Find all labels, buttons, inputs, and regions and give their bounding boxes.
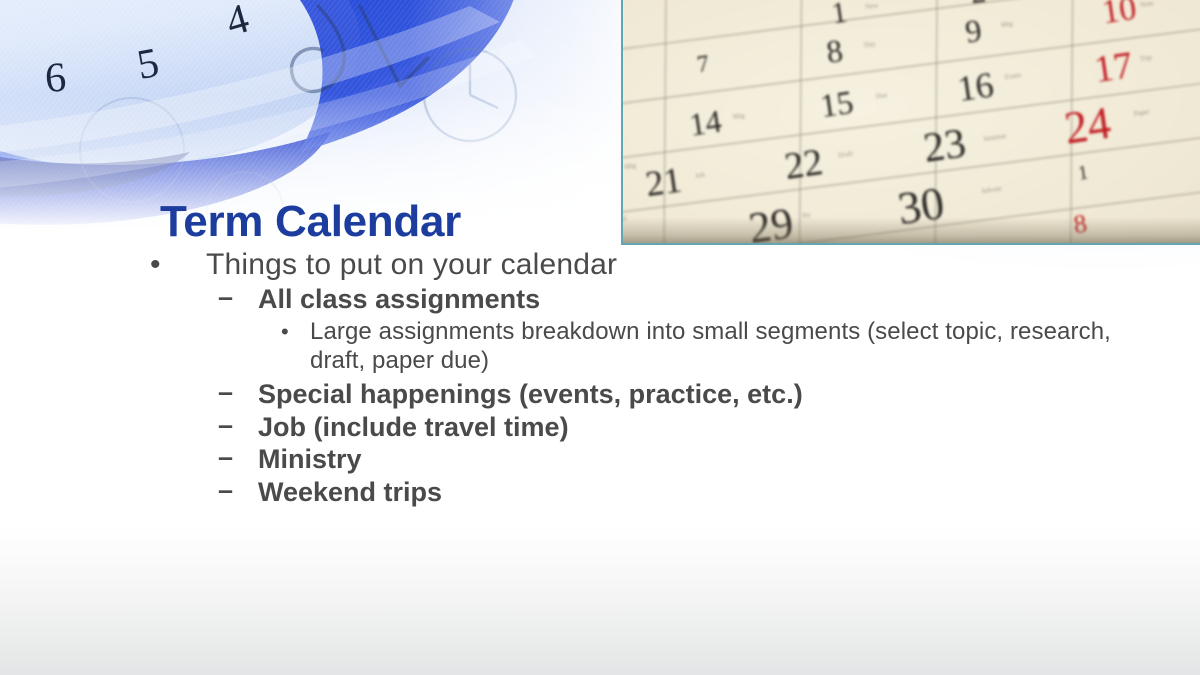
bullet-level1: • Things to put on your calendar [150, 248, 1160, 282]
bullet-marker-level3: • [281, 321, 289, 343]
calendar-cell-note: Due [875, 91, 888, 101]
calendar-photo: 1 2 3 7 8 9 10 14 15 16 17 21 22 23 24 2 [621, 0, 1200, 245]
bullet-text: Ministry [258, 444, 1160, 476]
calendar-date: 24 [1062, 100, 1114, 152]
bullet-marker-level2: – [218, 412, 233, 439]
calendar-date: 16 [955, 66, 996, 107]
calendar-date: 17 [1092, 46, 1135, 89]
bullet-marker-level2: – [218, 379, 233, 406]
calendar-cell-note: Day [864, 40, 877, 50]
calendar-date: 22 [782, 143, 825, 186]
bullet-text: Things to put on your calendar [206, 248, 1160, 282]
calendar-date: 29 [746, 201, 796, 245]
bullet-marker-level2: – [218, 477, 233, 504]
calendar-cell-note: Mtg [1000, 20, 1013, 30]
clock-numeral-6: 6 [43, 55, 67, 102]
bullet-level2: – All class assignments [150, 284, 1160, 316]
calendar-cell-note: Mtg [624, 161, 637, 171]
calendar-date: 30 [895, 180, 947, 232]
bullet-marker-level2: – [218, 444, 233, 471]
calendar-date: 10 [1100, 0, 1139, 30]
calendar-cell-note: Ptr [802, 211, 811, 220]
calendar-cell-note: Trip [1139, 53, 1152, 63]
bullet-level2: – Job (include travel time) [150, 412, 1160, 444]
bullet-level2: – Weekend trips [150, 477, 1160, 509]
bullet-text: All class assignments [258, 284, 1160, 316]
bullet-level2: – Ministry [150, 444, 1160, 476]
calendar-photo-blur-layer: 1 2 3 7 8 9 10 14 15 16 17 21 22 23 24 2 [623, 0, 1200, 243]
slide-body-content: • Things to put on your calendar – All c… [150, 248, 1160, 510]
bullet-text: Weekend trips [258, 477, 1160, 509]
calendar-date: 15 [818, 87, 855, 124]
calendar-cell-note: Hol [621, 214, 627, 223]
calendar-date: 14 [687, 105, 723, 141]
calendar-paper: 1 2 3 7 8 9 10 14 15 16 17 21 22 23 24 2 [621, 0, 1200, 245]
presentation-slide: 4 5 6 [0, 0, 1200, 675]
bullet-text: Job (include travel time) [258, 412, 1160, 444]
calendar-date: 23 [921, 122, 969, 170]
bullet-text: Large assignments breakdown into small s… [310, 318, 1160, 375]
bullet-marker-level1: • [150, 250, 161, 280]
calendar-date: 21 [643, 161, 684, 202]
bullet-level2: – Special happenings (events, practice, … [150, 379, 1160, 411]
bullet-text: Special happenings (events, practice, et… [258, 379, 1160, 411]
calendar-cell-note: Job [695, 171, 706, 180]
bullet-marker-level2: – [218, 284, 233, 311]
page-title: Term Calendar [160, 197, 461, 247]
bullet-level3: • Large assignments breakdown into small… [150, 318, 1160, 375]
calendar-cell-note: Mtg [732, 111, 745, 121]
